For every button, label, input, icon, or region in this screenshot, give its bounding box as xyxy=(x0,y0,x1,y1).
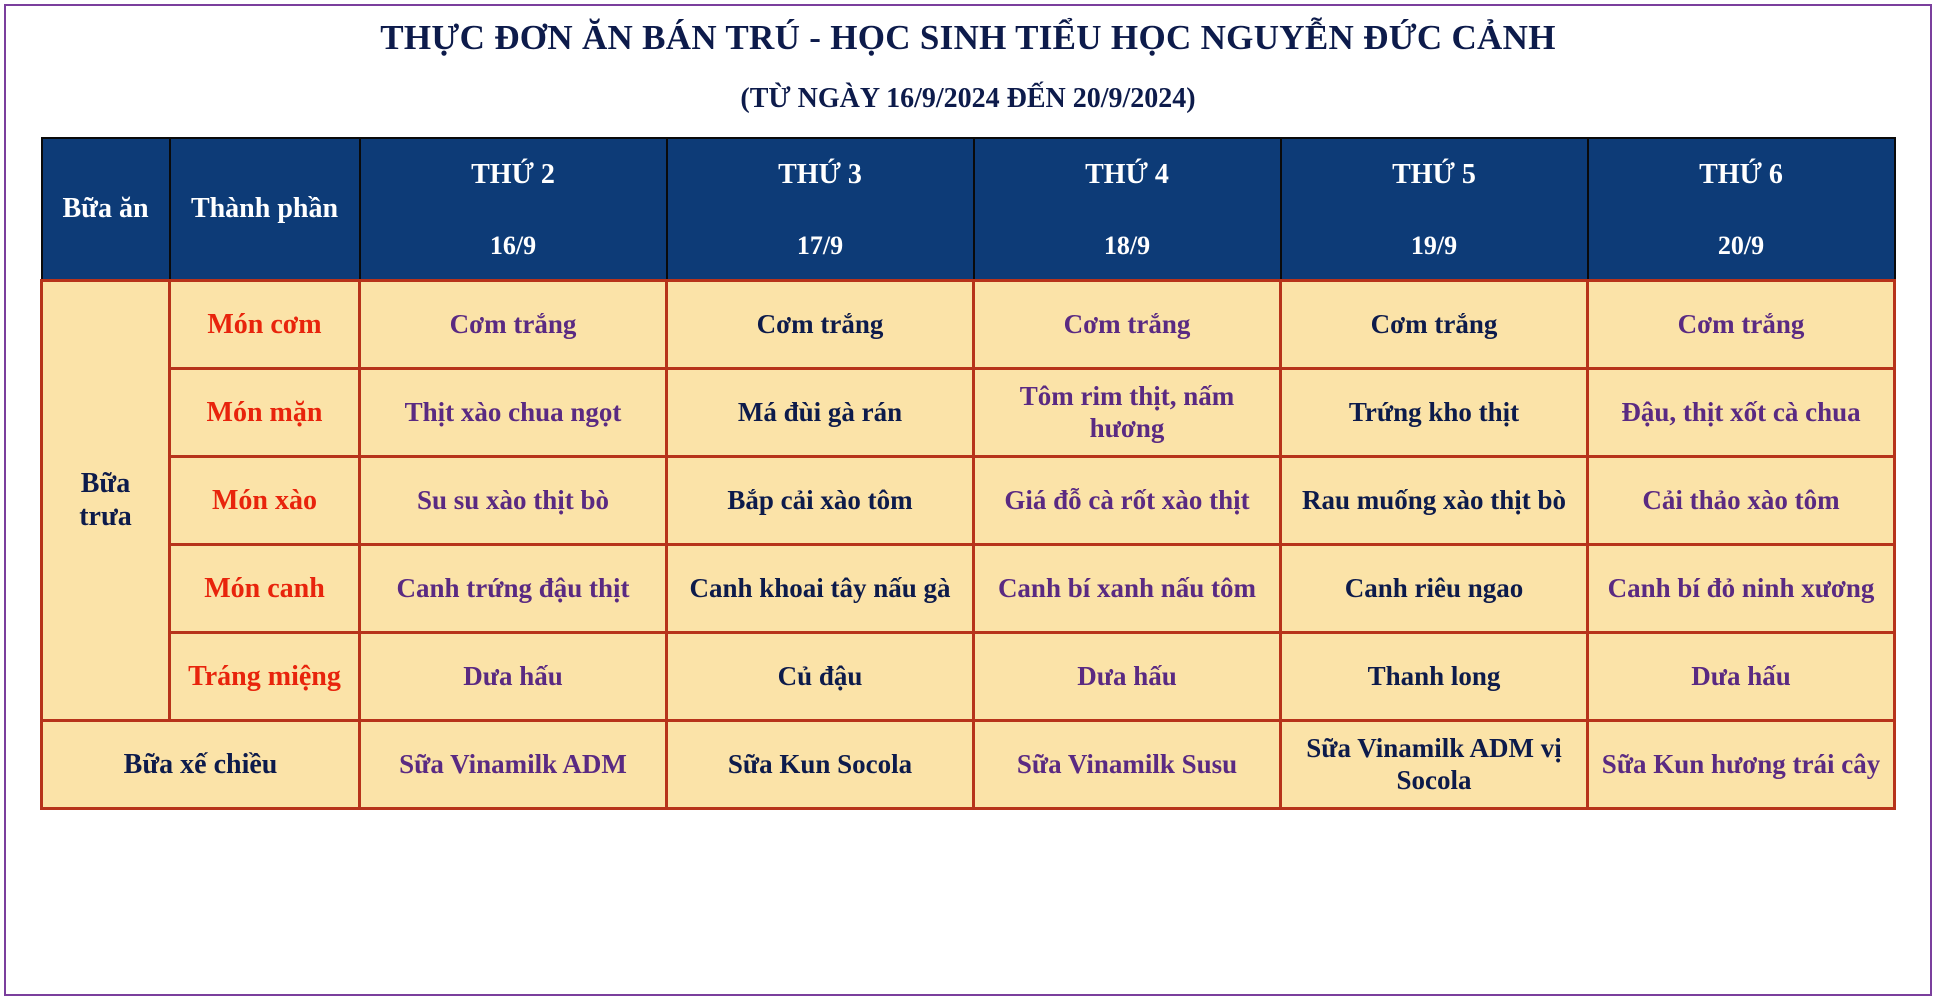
table-row: Bữa trưa Món cơm Cơm trắng Cơm trắng Cơm… xyxy=(42,280,1895,368)
component-label: Món mặn xyxy=(170,368,360,456)
table-row: Món xào Su su xào thịt bò Bắp cải xào tô… xyxy=(42,456,1895,544)
menu-table: Bữa ăn Thành phần THỨ 2 16/9 THỨ 3 xyxy=(40,137,1896,810)
header-day-label: THỨ 4 xyxy=(1085,160,1169,191)
header-day-mon: THỨ 2 16/9 xyxy=(360,138,667,280)
dish-cell: Canh khoai tây nấu gà xyxy=(667,544,974,632)
table-body: Bữa trưa Món cơm Cơm trắng Cơm trắng Cơm… xyxy=(42,280,1895,808)
dish-cell: Canh bí xanh nấu tôm xyxy=(974,544,1281,632)
dish-cell: Sữa Kun Socola xyxy=(667,720,974,808)
table-header: Bữa ăn Thành phần THỨ 2 16/9 THỨ 3 xyxy=(42,138,1895,280)
meal-label-snack: Bữa xế chiều xyxy=(42,720,360,808)
header-component-label: Thành phần xyxy=(171,193,359,225)
dish-cell: Trứng kho thịt xyxy=(1281,368,1588,456)
header-date-label: 16/9 xyxy=(490,232,536,261)
header-component: Thành phần xyxy=(170,138,360,280)
dish-cell: Canh trứng đậu thịt xyxy=(360,544,667,632)
header-day-label: THỨ 2 xyxy=(471,160,555,191)
header-day-label: THỨ 6 xyxy=(1699,160,1783,191)
header-day-fri: THỨ 6 20/9 xyxy=(1588,138,1895,280)
table-row: Bữa xế chiều Sữa Vinamilk ADM Sữa Kun So… xyxy=(42,720,1895,808)
dish-cell: Sữa Vinamilk Susu xyxy=(974,720,1281,808)
header-meal-label: Bữa ăn xyxy=(43,193,169,225)
dish-cell: Cơm trắng xyxy=(667,280,974,368)
header-day-label: THỨ 3 xyxy=(778,160,862,191)
dish-cell: Má đùi gà rán xyxy=(667,368,974,456)
menu-document: THỰC ĐƠN ĂN BÁN TRÚ - HỌC SINH TIỂU HỌC … xyxy=(0,0,1936,1000)
header-day-tue: THỨ 3 17/9 xyxy=(667,138,974,280)
dish-cell: Sữa Kun hương trái cây xyxy=(1588,720,1895,808)
dish-cell: Tôm rim thịt, nấm hương xyxy=(974,368,1281,456)
dish-cell: Thịt xào chua ngọt xyxy=(360,368,667,456)
header-date-label: 17/9 xyxy=(797,232,843,261)
table-row: Món canh Canh trứng đậu thịt Canh khoai … xyxy=(42,544,1895,632)
dish-cell: Rau muống xào thịt bò xyxy=(1281,456,1588,544)
dish-cell: Sữa Vinamilk ADM xyxy=(360,720,667,808)
dish-cell: Sữa Vinamilk ADM vị Socola xyxy=(1281,720,1588,808)
table-row: Món mặn Thịt xào chua ngọt Má đùi gà rán… xyxy=(42,368,1895,456)
meal-label-lunch: Bữa trưa xyxy=(42,280,170,720)
header-meal: Bữa ăn xyxy=(42,138,170,280)
header-day-label: THỨ 5 xyxy=(1392,160,1476,191)
dish-cell: Đậu, thịt xốt cà chua xyxy=(1588,368,1895,456)
dish-cell: Dưa hấu xyxy=(360,632,667,720)
menu-table-wrap: Bữa ăn Thành phần THỨ 2 16/9 THỨ 3 xyxy=(40,137,1896,810)
header-row: Bữa ăn Thành phần THỨ 2 16/9 THỨ 3 xyxy=(42,138,1895,280)
header-date-label: 18/9 xyxy=(1104,232,1150,261)
header-date-label: 20/9 xyxy=(1718,232,1764,261)
dish-cell: Cơm trắng xyxy=(1588,280,1895,368)
title-block: THỰC ĐƠN ĂN BÁN TRÚ - HỌC SINH TIỂU HỌC … xyxy=(0,0,1936,115)
dish-cell: Cải thảo xào tôm xyxy=(1588,456,1895,544)
dish-cell: Cơm trắng xyxy=(1281,280,1588,368)
dish-cell: Canh bí đỏ ninh xương xyxy=(1588,544,1895,632)
dish-cell: Giá đỗ cà rốt xào thịt xyxy=(974,456,1281,544)
page-subtitle: (TỪ NGÀY 16/9/2024 ĐẾN 20/9/2024) xyxy=(0,82,1936,116)
dish-cell: Canh riêu ngao xyxy=(1281,544,1588,632)
component-label: Món cơm xyxy=(170,280,360,368)
component-label: Món canh xyxy=(170,544,360,632)
dish-cell: Dưa hấu xyxy=(974,632,1281,720)
component-label: Tráng miệng xyxy=(170,632,360,720)
dish-cell: Su su xào thịt bò xyxy=(360,456,667,544)
dish-cell: Cơm trắng xyxy=(974,280,1281,368)
dish-cell: Thanh long xyxy=(1281,632,1588,720)
header-date-label: 19/9 xyxy=(1411,232,1457,261)
dish-cell: Bắp cải xào tôm xyxy=(667,456,974,544)
page-title: THỰC ĐƠN ĂN BÁN TRÚ - HỌC SINH TIỂU HỌC … xyxy=(0,16,1936,60)
dish-cell: Cơm trắng xyxy=(360,280,667,368)
header-day-wed: THỨ 4 18/9 xyxy=(974,138,1281,280)
dish-cell: Củ đậu xyxy=(667,632,974,720)
header-day-thu: THỨ 5 19/9 xyxy=(1281,138,1588,280)
component-label: Món xào xyxy=(170,456,360,544)
table-row: Tráng miệng Dưa hấu Củ đậu Dưa hấu Thanh… xyxy=(42,632,1895,720)
dish-cell: Dưa hấu xyxy=(1588,632,1895,720)
